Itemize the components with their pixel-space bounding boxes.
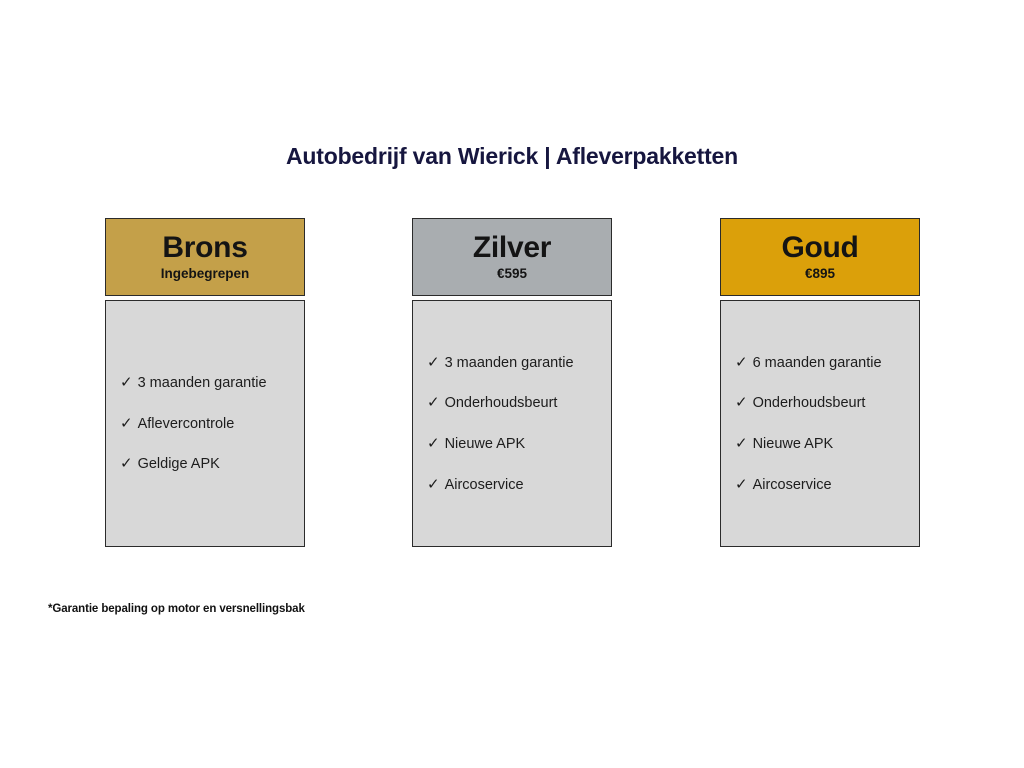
check-icon: ✓	[427, 476, 440, 493]
feature-label: Aflevercontrole	[138, 416, 235, 433]
feature-label: Nieuwe APK	[445, 436, 526, 453]
check-icon: ✓	[427, 435, 440, 452]
card-body-goud: ✓ 6 maanden garantie ✓ Onderhoudsbeurt ✓…	[720, 300, 920, 547]
card-body-brons: ✓ 3 maanden garantie ✓ Aflevercontrole ✓…	[105, 300, 305, 547]
feature-label: 3 maanden garantie	[138, 375, 267, 392]
tier-price-zilver: €595	[497, 267, 527, 282]
page-title: Autobedrijf van Wierick | Afleverpakkett…	[0, 143, 1024, 170]
pricing-card-brons: Brons Ingebegrepen ✓ 3 maanden garantie …	[105, 218, 305, 547]
check-icon: ✓	[427, 394, 440, 411]
feature-label: Onderhoudsbeurt	[445, 395, 558, 412]
pricing-card-zilver: Zilver €595 ✓ 3 maanden garantie ✓ Onder…	[412, 218, 612, 547]
feature-item: ✓ 6 maanden garantie	[735, 354, 919, 372]
feature-item: ✓ Aircoservice	[427, 476, 611, 494]
card-header-goud: Goud €895	[720, 218, 920, 296]
check-icon: ✓	[735, 394, 748, 411]
tier-name-brons: Brons	[162, 232, 247, 264]
pricing-card-goud: Goud €895 ✓ 6 maanden garantie ✓ Onderho…	[720, 218, 920, 547]
feature-label: 3 maanden garantie	[445, 355, 574, 372]
feature-label: Nieuwe APK	[753, 436, 834, 453]
feature-label: Aircoservice	[753, 477, 832, 494]
feature-item: ✓ Aircoservice	[735, 476, 919, 494]
check-icon: ✓	[735, 476, 748, 493]
feature-item: ✓ Aflevercontrole	[120, 415, 304, 433]
card-header-brons: Brons Ingebegrepen	[105, 218, 305, 296]
feature-item: ✓ Geldige APK	[120, 455, 304, 473]
check-icon: ✓	[735, 435, 748, 452]
check-icon: ✓	[120, 374, 133, 391]
feature-item: ✓ Nieuwe APK	[427, 435, 611, 453]
tier-name-goud: Goud	[781, 232, 858, 264]
feature-item: ✓ 3 maanden garantie	[120, 374, 304, 392]
check-icon: ✓	[120, 455, 133, 472]
feature-item: ✓ 3 maanden garantie	[427, 354, 611, 372]
feature-label: Geldige APK	[138, 456, 220, 473]
tier-name-zilver: Zilver	[473, 232, 551, 264]
feature-label: Aircoservice	[445, 477, 524, 494]
warranty-footnote: *Garantie bepaling op motor en versnelli…	[48, 603, 305, 615]
pricing-cards-container: Brons Ingebegrepen ✓ 3 maanden garantie …	[105, 218, 920, 548]
tier-price-goud: €895	[805, 267, 835, 282]
feature-item: ✓ Nieuwe APK	[735, 435, 919, 453]
check-icon: ✓	[427, 354, 440, 371]
feature-item: ✓ Onderhoudsbeurt	[427, 394, 611, 412]
feature-label: Onderhoudsbeurt	[753, 395, 866, 412]
card-body-zilver: ✓ 3 maanden garantie ✓ Onderhoudsbeurt ✓…	[412, 300, 612, 547]
tier-price-brons: Ingebegrepen	[161, 267, 250, 282]
card-header-zilver: Zilver €595	[412, 218, 612, 296]
feature-label: 6 maanden garantie	[753, 355, 882, 372]
check-icon: ✓	[120, 415, 133, 432]
feature-item: ✓ Onderhoudsbeurt	[735, 394, 919, 412]
check-icon: ✓	[735, 354, 748, 371]
